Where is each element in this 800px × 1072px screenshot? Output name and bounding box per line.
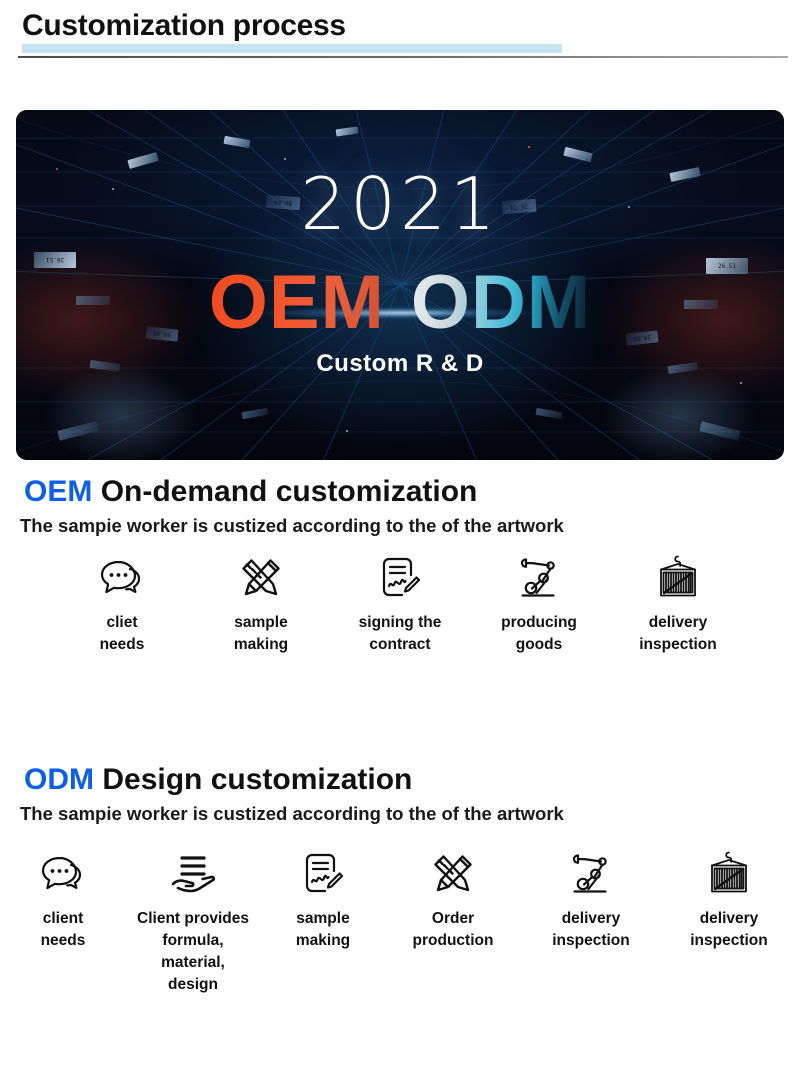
odm-step-label: deliveryinspection (690, 908, 768, 952)
oem-subtitle: The sampie worker is custized according … (0, 512, 800, 540)
robot-arm-icon (568, 850, 614, 898)
odm-keyword: ODM (24, 763, 94, 796)
odm-step-label: Orderproduction (413, 908, 494, 952)
document-signature-icon (378, 554, 422, 602)
hand-document-icon (169, 850, 217, 898)
odm-step-label: clientneeds (41, 908, 86, 952)
oem-step-sample-making[interactable]: samplemaking (192, 554, 331, 656)
hero-year: 2021 (16, 162, 784, 246)
oem-heading-text: On-demand customization (101, 475, 478, 508)
hero-brand-odm: ODM (411, 260, 591, 345)
page-title: Customization process (0, 0, 800, 46)
hero-banner: 26.51 26.51 90.04 26.74 30.06 30.06 2021… (16, 110, 784, 460)
robot-arm-icon (516, 554, 562, 602)
odm-steps: clientneeds Client providesformula,mater… (0, 850, 800, 996)
oem-step-label: signing thecontract (359, 612, 442, 656)
crate-hook-icon (655, 554, 701, 602)
oem-step-signing-contract[interactable]: signing thecontract (331, 554, 470, 656)
oem-step-delivery-inspection[interactable]: deliveryinspection (609, 554, 748, 656)
pencil-ruler-icon (431, 850, 475, 898)
odm-step-client-provides[interactable]: Client providesformula,material,design (124, 850, 262, 996)
hero-speck (284, 158, 286, 160)
oem-heading: OEM On-demand customization (0, 472, 800, 512)
document-signature-icon (301, 850, 345, 898)
odm-heading-text: Design customization (102, 763, 412, 796)
chat-bubbles-icon (98, 554, 146, 602)
crate-hook-icon (706, 850, 752, 898)
hero-brand: OEMODM (16, 265, 784, 341)
odm-step-delivery-inspection-crate[interactable]: deliveryinspection (660, 850, 798, 952)
odm-step-client-needs[interactable]: clientneeds (2, 850, 124, 952)
pencil-ruler-icon (239, 554, 283, 602)
oem-step-label: samplemaking (234, 612, 288, 656)
title-accent-bar (22, 44, 562, 53)
odm-step-label: samplemaking (296, 908, 350, 952)
oem-step-label: producinggoods (501, 612, 577, 656)
odm-step-label: deliveryinspection (552, 908, 630, 952)
oem-section: OEM On-demand customization The sampie w… (0, 472, 800, 656)
oem-step-cliet-needs[interactable]: clietneeds (53, 554, 192, 656)
odm-step-label: Client providesformula,material,design (137, 908, 249, 996)
hero-speck (346, 430, 348, 432)
customization-process-page: Customization process (0, 0, 800, 1072)
hero-brand-oem: OEM (209, 260, 385, 345)
odm-step-delivery-inspection-robot[interactable]: deliveryinspection (522, 850, 660, 952)
title-divider (18, 56, 788, 58)
oem-step-label: clietneeds (100, 612, 145, 656)
oem-step-label: deliveryinspection (639, 612, 717, 656)
odm-heading: ODM Design customization (0, 760, 800, 800)
oem-step-producing-goods[interactable]: producinggoods (470, 554, 609, 656)
hero-speck (528, 146, 530, 148)
hero-subtitle: Custom R & D (16, 350, 784, 378)
odm-section: ODM Design customization The sampie work… (0, 760, 800, 996)
oem-keyword: OEM (24, 475, 92, 508)
chat-bubbles-icon (39, 850, 87, 898)
page-header: Customization process (0, 0, 800, 46)
odm-step-order-production[interactable]: Orderproduction (384, 850, 522, 952)
odm-step-sample-making[interactable]: samplemaking (262, 850, 384, 952)
hero-speck (740, 382, 742, 384)
oem-steps: clietneeds samplemaking (0, 554, 800, 656)
odm-subtitle: The sampie worker is custized according … (0, 800, 800, 828)
